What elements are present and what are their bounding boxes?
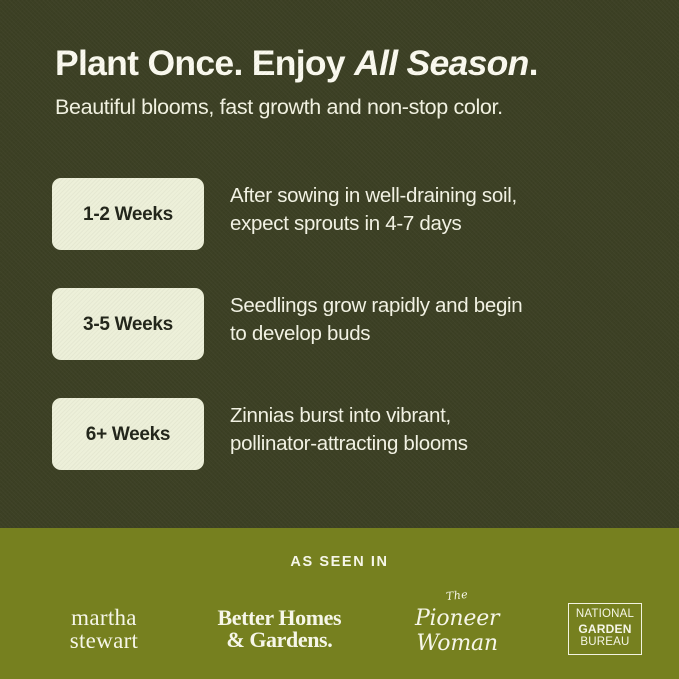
publication-logo-row: martha stewart Better Homes & Gardens. T… <box>24 590 655 668</box>
stage-description-line: After sowing in well-draining soil, <box>230 182 642 210</box>
logo-line: The <box>446 587 469 602</box>
as-seen-in-band: AS SEEN IN martha stewart Better Homes &… <box>0 528 679 679</box>
stage-description-line: Zinnias burst into vibrant, <box>230 402 642 430</box>
logo-line: & Gardens. <box>217 629 341 651</box>
stage-chip-label: 1-2 Weeks <box>83 205 173 224</box>
national-garden-bureau-wordmark: NATIONAL GARDEN BUREAU <box>568 603 642 655</box>
header-block: Plant Once. Enjoy All Season. Beautiful … <box>55 43 645 122</box>
timeline-row: 3-5 Weeks Seedlings grow rapidly and beg… <box>52 288 642 360</box>
headline-emphasis: All Season <box>354 43 529 83</box>
page-title: Plant Once. Enjoy All Season. <box>55 43 645 85</box>
martha-stewart-wordmark: martha stewart <box>70 606 139 653</box>
stage-description: Seedlings grow rapidly and begin to deve… <box>230 288 642 349</box>
logo-the-pioneer-woman: The Pioneer Woman <box>375 590 540 668</box>
logo-line: Better Homes <box>217 607 341 629</box>
as-seen-in-title: AS SEEN IN <box>0 554 679 570</box>
page-subtitle: Beautiful blooms, fast growth and non-st… <box>55 94 645 122</box>
stage-description-line: pollinator-attracting blooms <box>230 430 642 458</box>
stage-chip-label: 6+ Weeks <box>86 425 170 444</box>
pioneer-woman-wordmark: The Pioneer Woman <box>375 603 540 656</box>
headline-part2: . <box>529 43 538 83</box>
stage-chip-6-plus-weeks: 6+ Weeks <box>52 398 204 470</box>
better-homes-gardens-wordmark: Better Homes & Gardens. <box>217 607 341 651</box>
logo-martha-stewart: martha stewart <box>24 590 184 668</box>
logo-line: martha <box>70 606 139 629</box>
stage-description-line: expect sprouts in 4-7 days <box>230 210 642 238</box>
logo-line: BUREAU <box>580 636 629 650</box>
logo-line: stewart <box>70 629 139 652</box>
stage-description-line: Seedlings grow rapidly and begin <box>230 292 642 320</box>
growth-timeline: 1-2 Weeks After sowing in well-draining … <box>52 178 642 470</box>
stage-description: After sowing in well-draining soil, expe… <box>230 178 642 239</box>
headline-part1: Plant Once. Enjoy <box>55 43 354 83</box>
stage-chip-label: 3-5 Weeks <box>83 315 173 334</box>
stage-description-line: to develop buds <box>230 320 642 348</box>
timeline-row: 6+ Weeks Zinnias burst into vibrant, pol… <box>52 398 642 470</box>
logo-line: GARDEN <box>578 622 631 636</box>
logo-line: Pioneer Woman <box>375 603 540 656</box>
logo-line: NATIONAL <box>576 608 634 622</box>
promo-infographic: Plant Once. Enjoy All Season. Beautiful … <box>0 0 679 679</box>
stage-description: Zinnias burst into vibrant, pollinator-a… <box>230 398 642 459</box>
logo-national-garden-bureau: NATIONAL GARDEN BUREAU <box>555 590 655 668</box>
logo-better-homes-and-gardens: Better Homes & Gardens. <box>199 590 359 668</box>
timeline-row: 1-2 Weeks After sowing in well-draining … <box>52 178 642 250</box>
stage-chip-1-2-weeks: 1-2 Weeks <box>52 178 204 250</box>
stage-chip-3-5-weeks: 3-5 Weeks <box>52 288 204 360</box>
